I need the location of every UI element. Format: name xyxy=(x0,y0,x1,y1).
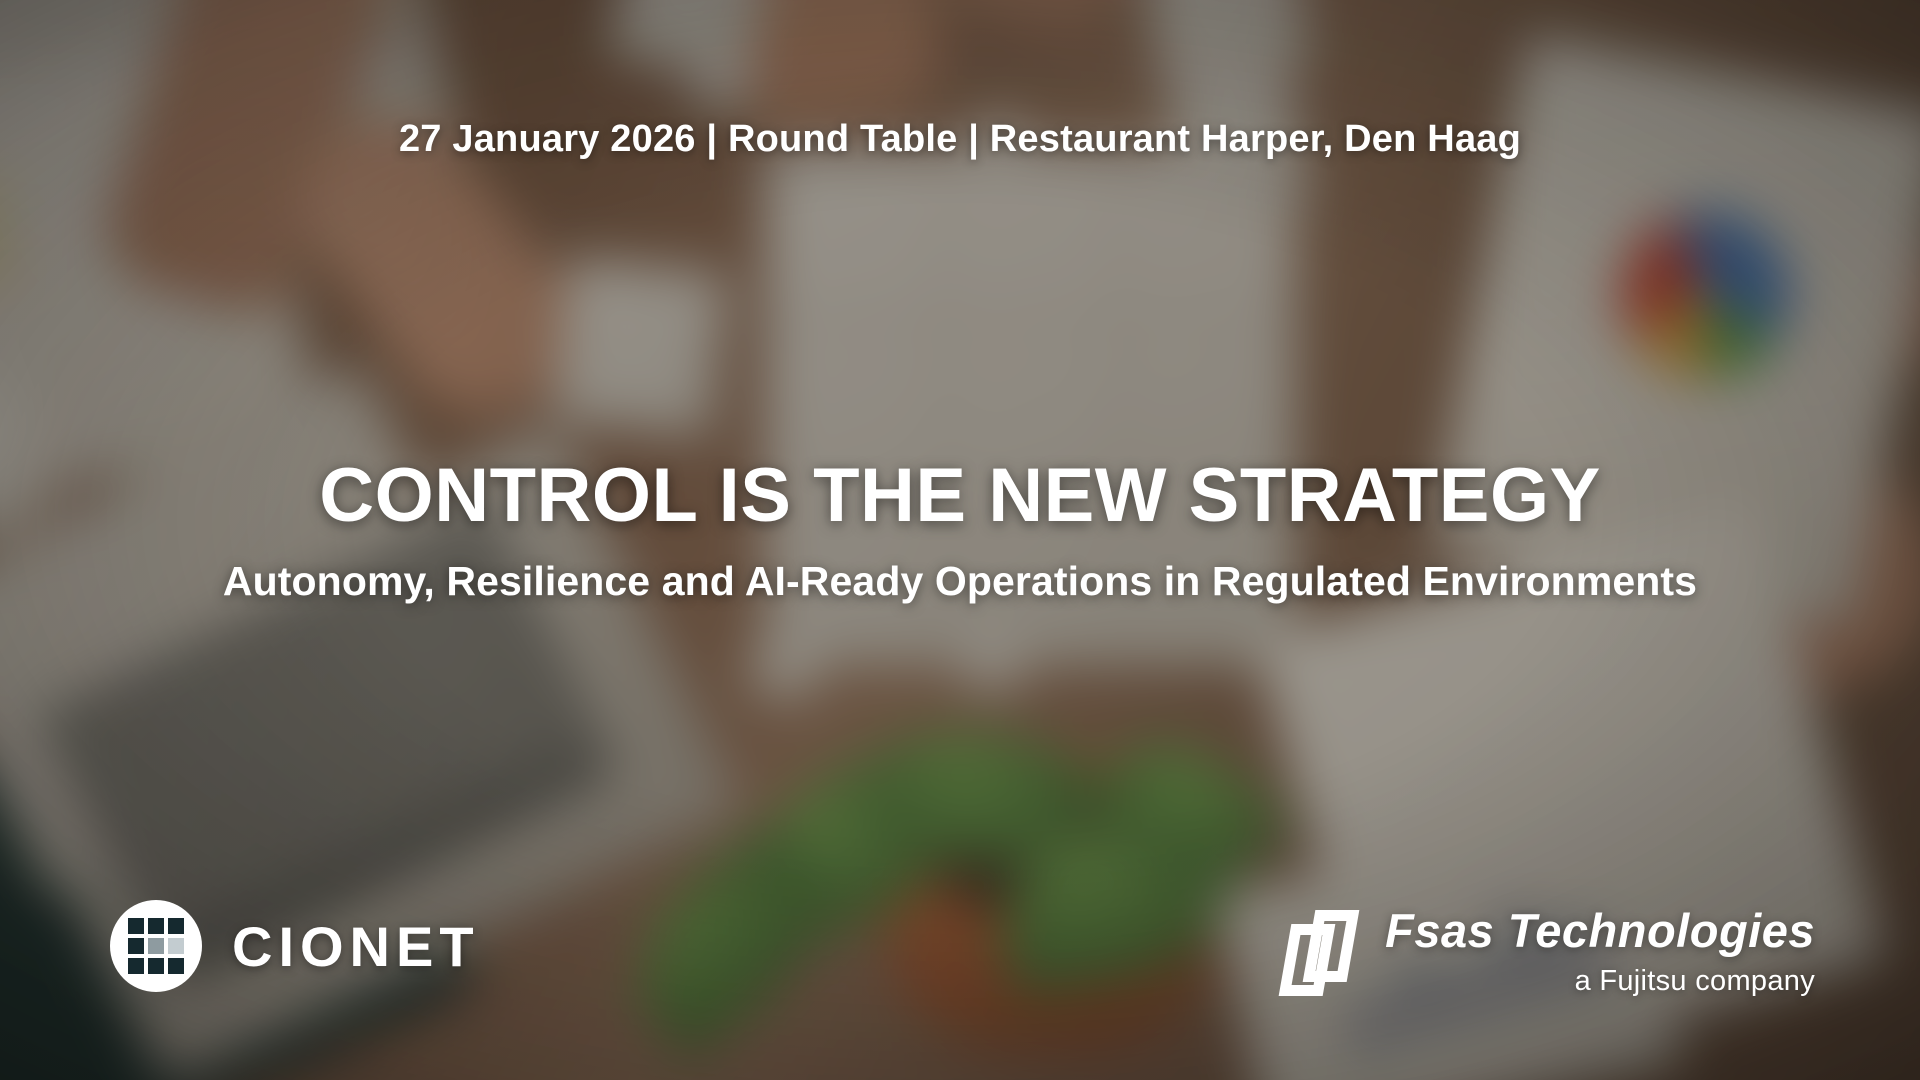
fsas-parallelogram-mark-icon xyxy=(1285,910,1359,1000)
event-banner: 27 January 2026 | Round Table | Restaura… xyxy=(0,0,1920,1080)
grid-3x3-icon xyxy=(128,918,184,974)
cionet-logo: CIONET xyxy=(110,900,480,992)
cionet-wordmark: CIONET xyxy=(232,914,480,979)
banner-content: 27 January 2026 | Round Table | Restaura… xyxy=(0,0,1920,1080)
fsas-technologies-logo: Fsas Technologies a Fujitsu company xyxy=(1285,906,1815,1000)
cionet-badge xyxy=(110,900,202,992)
page-subtitle: Autonomy, Resilience and AI-Ready Operat… xyxy=(0,558,1920,605)
fsas-tagline: a Fujitsu company xyxy=(1575,965,1815,998)
fsas-text-block: Fsas Technologies a Fujitsu company xyxy=(1385,906,1815,998)
event-meta-line: 27 January 2026 | Round Table | Restaura… xyxy=(0,118,1920,161)
fsas-wordmark: Fsas Technologies xyxy=(1385,906,1815,955)
page-title: CONTROL IS THE NEW STRATEGY xyxy=(0,452,1920,539)
